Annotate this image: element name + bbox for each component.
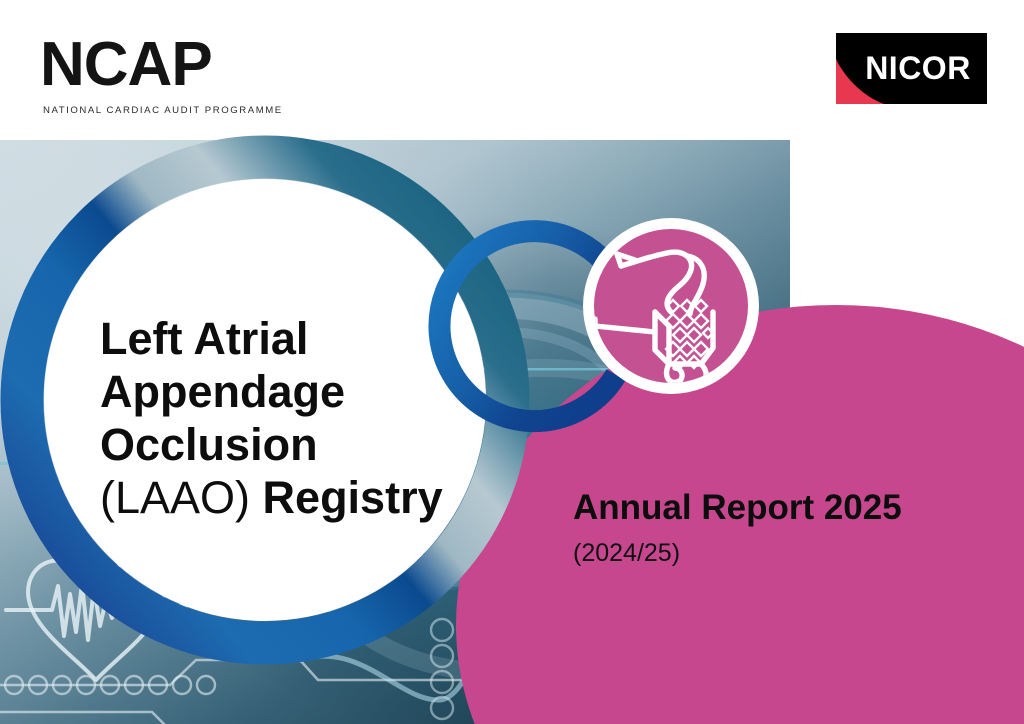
report-heading: Annual Report 2025 [573,489,902,528]
ncap-tagline: NATIONAL CARDIAC AUDIT PROGRAMME [43,105,300,116]
report-cover: Left Atrial Appendage Occlusion (LAAO) R… [0,0,1024,724]
title-abbreviation: (LAAO) [100,472,263,523]
nicor-wordmark: NICOR [865,50,971,86]
title-line-2: Appendage [100,365,480,418]
title-line-4: (LAAO) Registry [100,471,480,524]
title-line-1: Left Atrial [100,312,480,365]
cover-title: Left Atrial Appendage Occlusion (LAAO) R… [100,312,480,524]
nicor-logo: NICOR [836,33,987,104]
title-line-3: Occlusion [100,418,480,471]
ncap-logo: NCAP NATIONAL CARDIAC AUDIT PROGRAMME [40,34,300,116]
report-period: (2024/25) [573,540,902,568]
ncap-wordmark: NCAP [40,34,300,96]
laao-device-badge [551,186,791,426]
title-registry-word: Registry [263,472,443,523]
report-title-block: Annual Report 2025 (2024/25) [573,489,902,567]
